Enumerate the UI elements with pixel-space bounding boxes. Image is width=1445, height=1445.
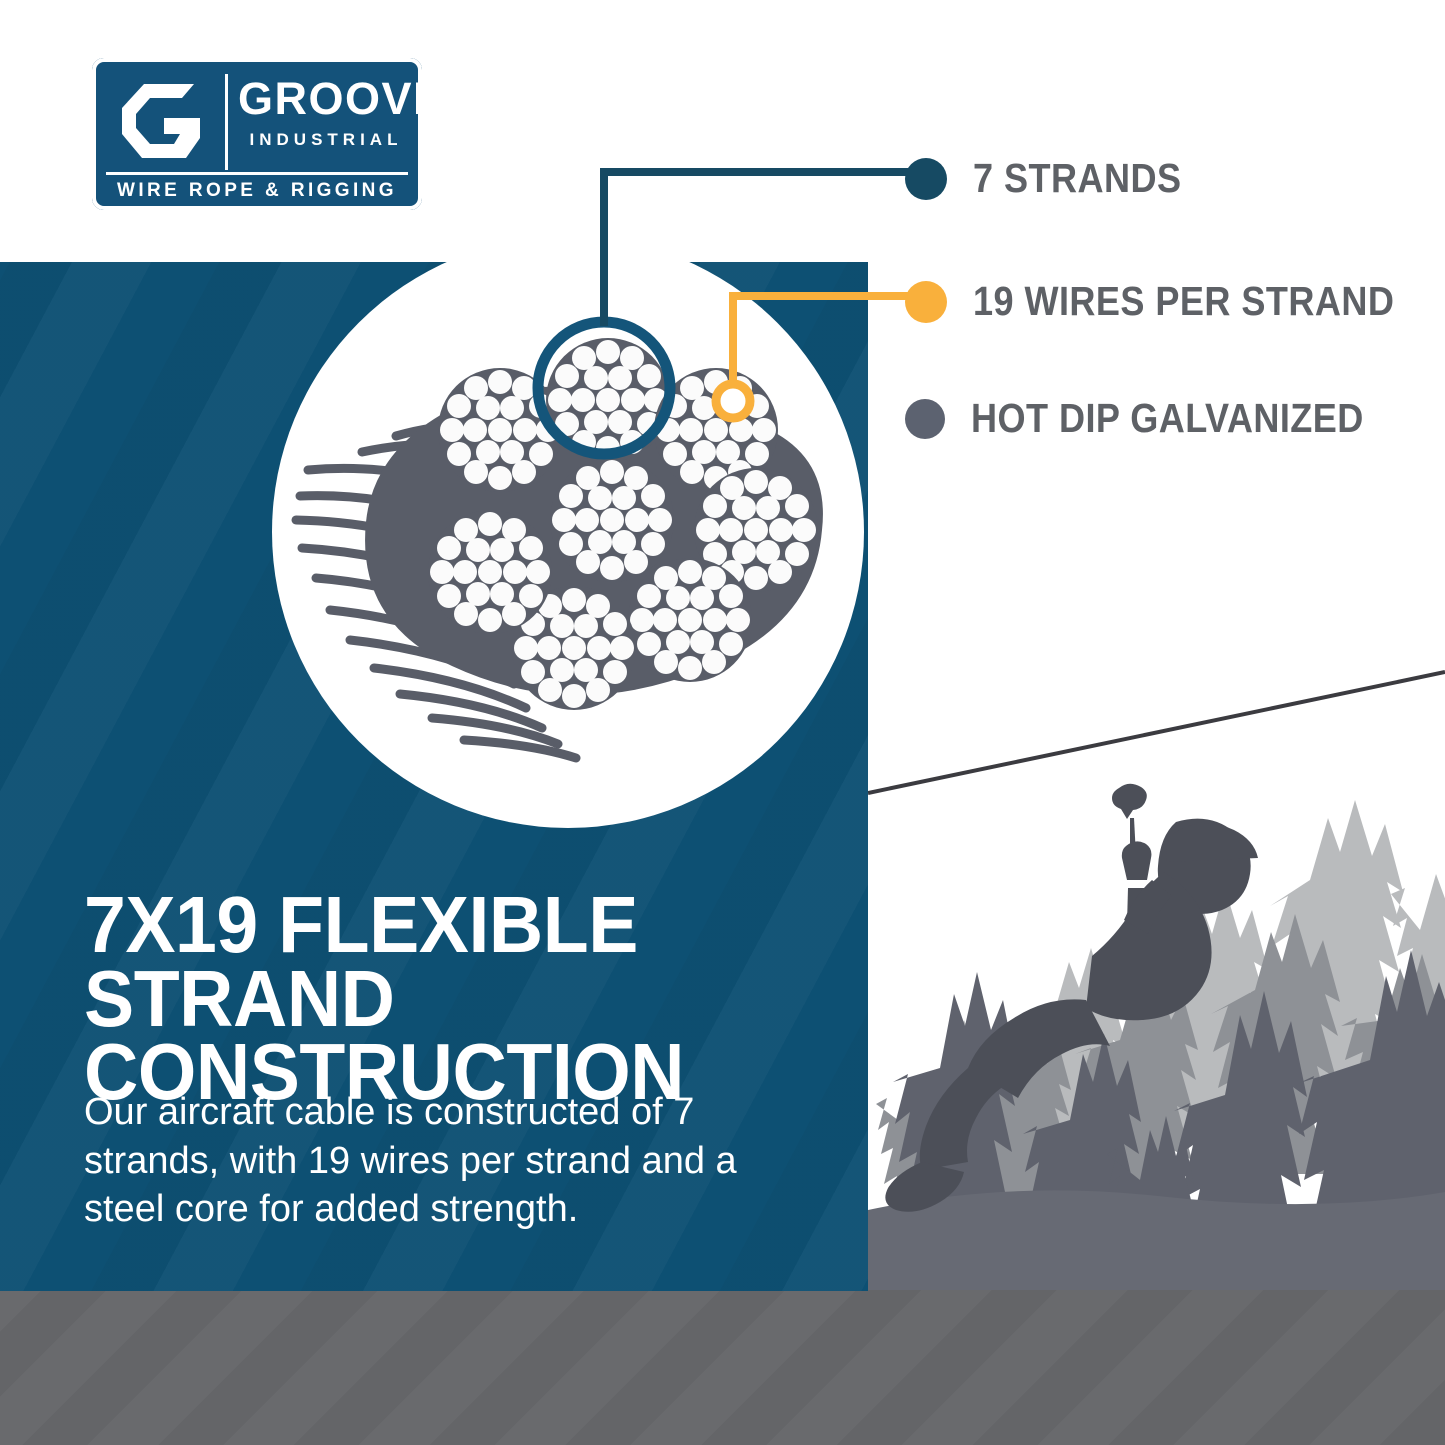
callout-19-wires-per-strand[interactable]: 19 WIRES PER STRAND <box>905 278 1445 325</box>
title-line-1: 7X19 FLEXIBLE <box>84 888 798 962</box>
callout-label: HOT DIP GALVANIZED <box>971 395 1364 442</box>
callout-dot-icon <box>905 158 947 200</box>
infographic-root: GROOVE INDUSTRIAL WIRE ROPE & RIGGING 7 … <box>0 0 1445 1445</box>
callout-label: 19 WIRES PER STRAND <box>973 278 1394 325</box>
logo-tagline: WIRE ROPE & RIGGING <box>106 180 408 202</box>
callout-label: 7 STRANDS <box>973 155 1181 202</box>
logo-subtitle: INDUSTRIAL <box>238 130 414 150</box>
callout-dot-icon <box>905 281 947 323</box>
page-title: 7X19 FLEXIBLE STRAND CONSTRUCTION <box>84 888 798 1109</box>
title-line-2: STRAND CONSTRUCTION <box>84 962 798 1109</box>
callout-7-strands[interactable]: 7 STRANDS <box>905 155 1210 202</box>
logo-inner-frame: GROOVE INDUSTRIAL WIRE ROPE & RIGGING <box>102 68 412 200</box>
callout-dot-icon <box>905 399 945 439</box>
brand-logo[interactable]: GROOVE INDUSTRIAL WIRE ROPE & RIGGING <box>92 58 422 210</box>
connector-ring-19-wires <box>716 384 750 418</box>
callout-hot-dip-galvanized[interactable]: HOT DIP GALVANIZED <box>905 395 1417 442</box>
body-description: Our aircraft cable is constructed of 7 s… <box>84 1088 744 1234</box>
connector-line-19-wires <box>733 296 905 400</box>
hexagon-g-mark <box>120 82 212 160</box>
logo-divider <box>225 74 228 170</box>
logo-wordmark: GROOVE <box>238 76 413 121</box>
logo-rule <box>106 172 408 175</box>
